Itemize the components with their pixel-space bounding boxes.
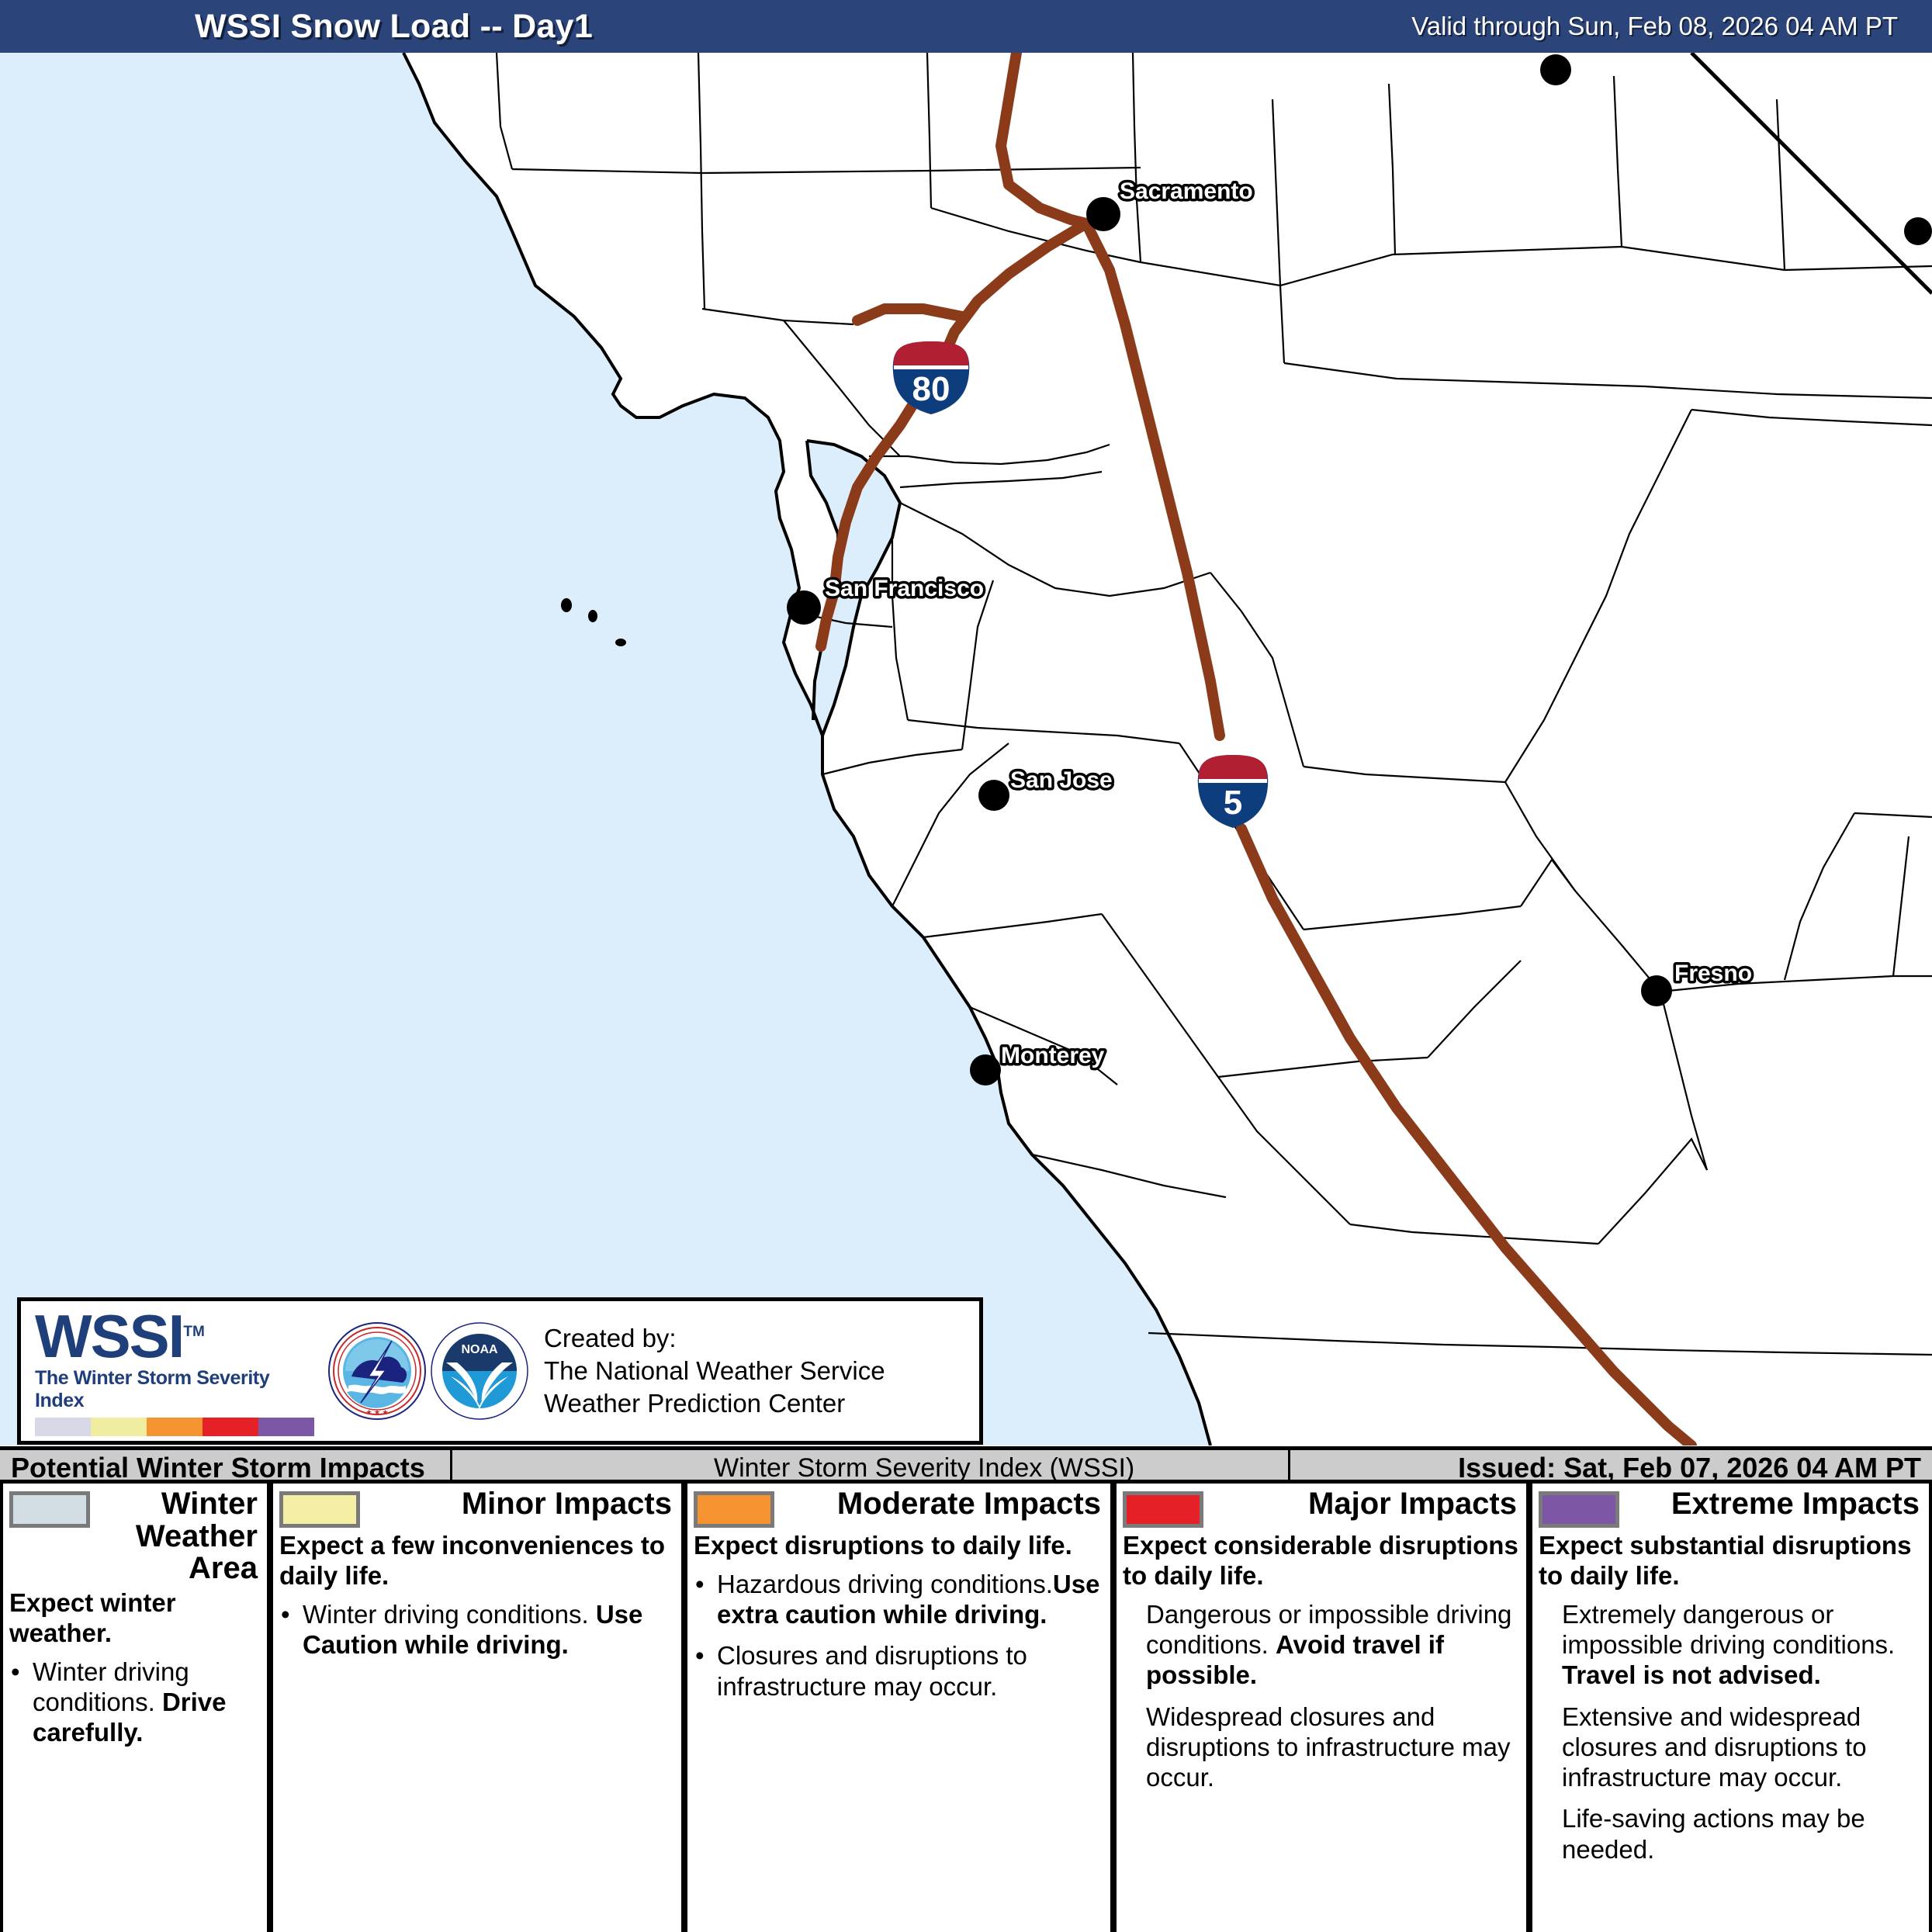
legend-swatch-minor-impacts bbox=[279, 1491, 360, 1528]
city-dot-sacramento bbox=[1086, 197, 1120, 231]
city-label-san-francisco: San Francisco bbox=[825, 576, 984, 601]
status-bar-left-label: Potential Winter Storm Impacts bbox=[11, 1452, 425, 1484]
noaa-seal: NOAA bbox=[431, 1322, 528, 1420]
map-graphic: 80 5 Sacramento San Francisco bbox=[0, 53, 1932, 1446]
legend-bullet-extreme-impacts-2: Life-saving actions may be needed. bbox=[1539, 1803, 1923, 1864]
legend-header-winter-weather-area: Winter Weather Area bbox=[9, 1488, 261, 1585]
wssi-tm-mark: TM bbox=[183, 1324, 204, 1340]
city-dot-monterey bbox=[970, 1054, 1001, 1085]
created-by-label: Created by: bbox=[544, 1322, 979, 1355]
bullet-dot-icon: • bbox=[695, 1640, 705, 1671]
city-dot-san-francisco bbox=[787, 590, 821, 625]
legend-summary-winter-weather-area: Expect winter weather. bbox=[9, 1588, 261, 1649]
legend-bullets-major-impacts: Dangerous or impossible driving conditio… bbox=[1123, 1599, 1520, 1793]
legend-column-winter-weather-area[interactable]: Winter Weather AreaExpect winter weather… bbox=[0, 1484, 270, 1932]
wssi-logo: WSSITM The Winter Storm Severity Index bbox=[21, 1301, 324, 1441]
legend-summary-moderate-impacts: Expect disruptions to daily life. bbox=[694, 1531, 1104, 1561]
color-bar-extreme bbox=[258, 1418, 314, 1436]
city-label-sacramento: Sacramento bbox=[1120, 178, 1253, 204]
status-bar-issued-label: Issued: Sat, Feb 07, 2026 04 AM PT bbox=[1458, 1452, 1921, 1484]
wssi-tagline: The Winter Storm Severity Index bbox=[35, 1367, 324, 1412]
legend-summary-minor-impacts: Expect a few inconveniences to daily lif… bbox=[279, 1531, 675, 1591]
legend-bullets-moderate-impacts: •Hazardous driving conditions.Use extra … bbox=[694, 1569, 1104, 1702]
legend-bullet-moderate-impacts-0: •Hazardous driving conditions.Use extra … bbox=[694, 1569, 1104, 1630]
legend-bullet-moderate-impacts-1: •Closures and disruptions to infrastruct… bbox=[694, 1640, 1104, 1702]
national-weather-service-seal: ★ ★ ★ bbox=[328, 1322, 426, 1420]
legend-column-moderate-impacts[interactable]: Moderate ImpactsExpect disruptions to da… bbox=[684, 1484, 1113, 1932]
status-bar-divider-1 bbox=[450, 1450, 452, 1487]
legend-column-major-impacts[interactable]: Major ImpactsExpect considerable disrupt… bbox=[1113, 1484, 1529, 1932]
svg-text:80: 80 bbox=[912, 370, 950, 408]
city-label-monterey: Monterey bbox=[1001, 1043, 1105, 1068]
city-dot-fresno bbox=[1641, 975, 1672, 1006]
map-canvas[interactable]: 80 5 Sacramento San Francisco bbox=[0, 53, 1932, 1446]
color-bar-minor bbox=[91, 1418, 147, 1436]
page-header: WSSI Snow Load -- Day1 Valid through Sun… bbox=[0, 0, 1932, 53]
status-bar-divider-2 bbox=[1288, 1450, 1290, 1487]
color-bar-moderate bbox=[147, 1418, 203, 1436]
created-by-block: Created by: The National Weather Service… bbox=[533, 1301, 979, 1441]
legend-swatch-moderate-impacts bbox=[694, 1491, 774, 1528]
city-label-fresno: Fresno bbox=[1674, 961, 1752, 986]
legend-swatch-extreme-impacts bbox=[1539, 1491, 1619, 1528]
city-dot-north-unlabeled bbox=[1540, 54, 1571, 85]
legend-swatch-major-impacts bbox=[1123, 1491, 1203, 1528]
legend-bullet-minor-impacts-0: •Winter driving conditions. Use Caution … bbox=[279, 1599, 675, 1660]
legend-header-major-impacts: Major Impacts bbox=[1123, 1488, 1520, 1528]
legend-header-extreme-impacts: Extreme Impacts bbox=[1539, 1488, 1923, 1528]
wssi-logo-box: WSSITM The Winter Storm Severity Index bbox=[17, 1297, 983, 1445]
legend-bullet-winter-weather-area-0: •Winter driving conditions. Drive carefu… bbox=[9, 1657, 261, 1748]
legend-header-minor-impacts: Minor Impacts bbox=[279, 1488, 675, 1528]
svg-text:★ ★ ★: ★ ★ ★ bbox=[365, 1408, 388, 1416]
legend-bullet-extreme-impacts-1: Extensive and widespread closures and di… bbox=[1539, 1702, 1923, 1793]
bullet-dot-icon: • bbox=[695, 1569, 705, 1599]
status-bar-center-label: Winter Storm Severity Index (WSSI) bbox=[714, 1453, 1134, 1484]
svg-text:NOAA: NOAA bbox=[461, 1343, 498, 1356]
wssi-map-page: WSSI Snow Load -- Day1 Valid through Sun… bbox=[0, 0, 1932, 1932]
legend-summary-extreme-impacts: Expect substantial disruptions to daily … bbox=[1539, 1531, 1923, 1591]
wssi-color-bar bbox=[35, 1418, 314, 1436]
legend-summary-major-impacts: Expect considerable disruptions to daily… bbox=[1123, 1531, 1520, 1591]
impact-legend: Winter Weather AreaExpect winter weather… bbox=[0, 1484, 1932, 1932]
legend-bullet-major-impacts-1: Widespread closures and disruptions to i… bbox=[1123, 1702, 1520, 1793]
created-by-agency: The National Weather Service bbox=[544, 1355, 979, 1387]
legend-title-extreme-impacts: Extreme Impacts bbox=[1627, 1488, 1923, 1521]
legend-column-minor-impacts[interactable]: Minor ImpactsExpect a few inconveniences… bbox=[270, 1484, 684, 1932]
legend-swatch-winter-weather-area bbox=[9, 1491, 90, 1528]
legend-header-moderate-impacts: Moderate Impacts bbox=[694, 1488, 1104, 1528]
legend-title-winter-weather-area: Winter Weather Area bbox=[98, 1488, 261, 1585]
valid-through-text: Valid through Sun, Feb 08, 2026 04 AM PT bbox=[1411, 12, 1898, 41]
agency-seals: ★ ★ ★ NOAA bbox=[324, 1301, 533, 1441]
city-dot-east-unlabeled bbox=[1904, 217, 1932, 245]
status-bar: Potential Winter Storm Impacts Winter St… bbox=[0, 1446, 1932, 1484]
color-bar-major bbox=[203, 1418, 258, 1436]
created-by-center: Weather Prediction Center bbox=[544, 1387, 979, 1420]
bullet-dot-icon: • bbox=[281, 1599, 290, 1629]
legend-bullets-extreme-impacts: Extremely dangerous or impossible drivin… bbox=[1539, 1599, 1923, 1864]
legend-title-minor-impacts: Minor Impacts bbox=[368, 1488, 675, 1521]
page-title: WSSI Snow Load -- Day1 bbox=[195, 8, 593, 46]
city-dot-san-jose bbox=[978, 780, 1009, 811]
legend-title-moderate-impacts: Moderate Impacts bbox=[782, 1488, 1104, 1521]
legend-bullet-major-impacts-0: Dangerous or impossible driving conditio… bbox=[1123, 1599, 1520, 1691]
svg-text:5: 5 bbox=[1224, 784, 1242, 822]
legend-bullet-extreme-impacts-0: Extremely dangerous or impossible drivin… bbox=[1539, 1599, 1923, 1691]
legend-column-extreme-impacts[interactable]: Extreme ImpactsExpect substantial disrup… bbox=[1529, 1484, 1932, 1932]
legend-bullets-minor-impacts: •Winter driving conditions. Use Caution … bbox=[279, 1599, 675, 1660]
bullet-dot-icon: • bbox=[11, 1657, 20, 1687]
wssi-wordmark: WSSITM bbox=[35, 1307, 324, 1365]
city-label-san-jose: San Jose bbox=[1010, 767, 1113, 793]
legend-bullets-winter-weather-area: •Winter driving conditions. Drive carefu… bbox=[9, 1657, 261, 1748]
color-bar-winter-weather bbox=[35, 1418, 91, 1436]
legend-title-major-impacts: Major Impacts bbox=[1211, 1488, 1520, 1521]
